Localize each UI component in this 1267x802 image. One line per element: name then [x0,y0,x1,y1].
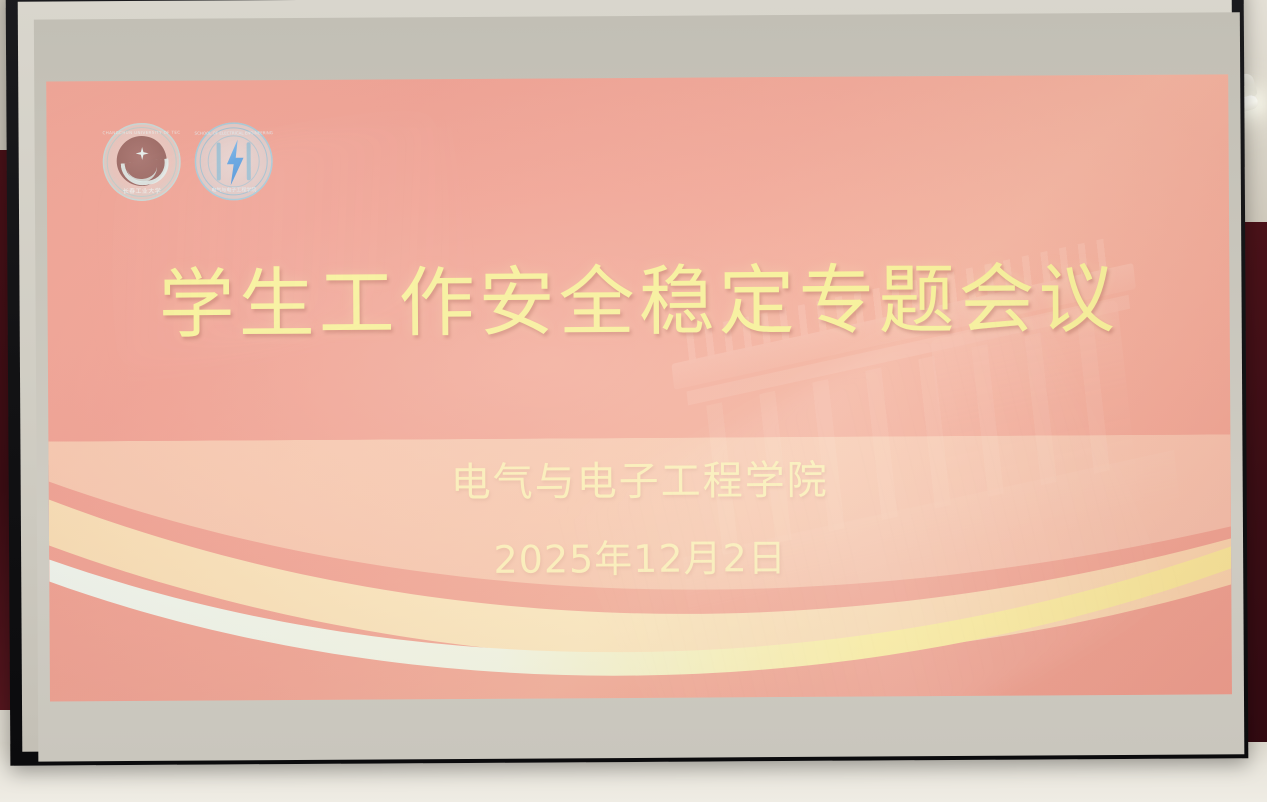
room-photo-scene: CHANGCHUN UNIVERSITY OF TECHNOLOGY 长春工业大… [0,0,1267,802]
slide-date: 2025年12月2日 [49,536,1231,581]
slide-logos: CHANGCHUN UNIVERSITY OF TECHNOLOGY 长春工业大… [102,122,272,201]
screen-surface: CHANGCHUN UNIVERSITY OF TECHNOLOGY 长春工业大… [34,12,1245,761]
electrical-engineering-logo: SCHOOL OF ELECTRICAL ENGINEERING 电气与电子工程… [194,122,272,200]
university-seal-logo: CHANGCHUN UNIVERSITY OF TECHNOLOGY 长春工业大… [102,123,180,201]
seal-ring-text-top: CHANGCHUN UNIVERSITY OF TECHNOLOGY [103,130,181,135]
slide-subtitle: 电气与电子工程学院 [49,458,1231,505]
emblem-ring-text-top: SCHOOL OF ELECTRICAL ENGINEERING [195,130,273,135]
slide-title: 学生工作安全稳定专题会议 [47,260,1229,343]
emblem-ring-text-bottom: 电气与电子工程学院 [195,186,273,193]
projected-slide: CHANGCHUN UNIVERSITY OF TECHNOLOGY 长春工业大… [46,74,1232,701]
projection-screen-frame: CHANGCHUN UNIVERSITY OF TECHNOLOGY 长春工业大… [6,0,1249,766]
emblem-right-bar [247,142,251,180]
emblem-left-bar [217,142,221,180]
seal-ring-text-bottom: 长春工业大学 [103,186,181,195]
screen-bezel: CHANGCHUN UNIVERSITY OF TECHNOLOGY 长春工业大… [18,0,1237,752]
